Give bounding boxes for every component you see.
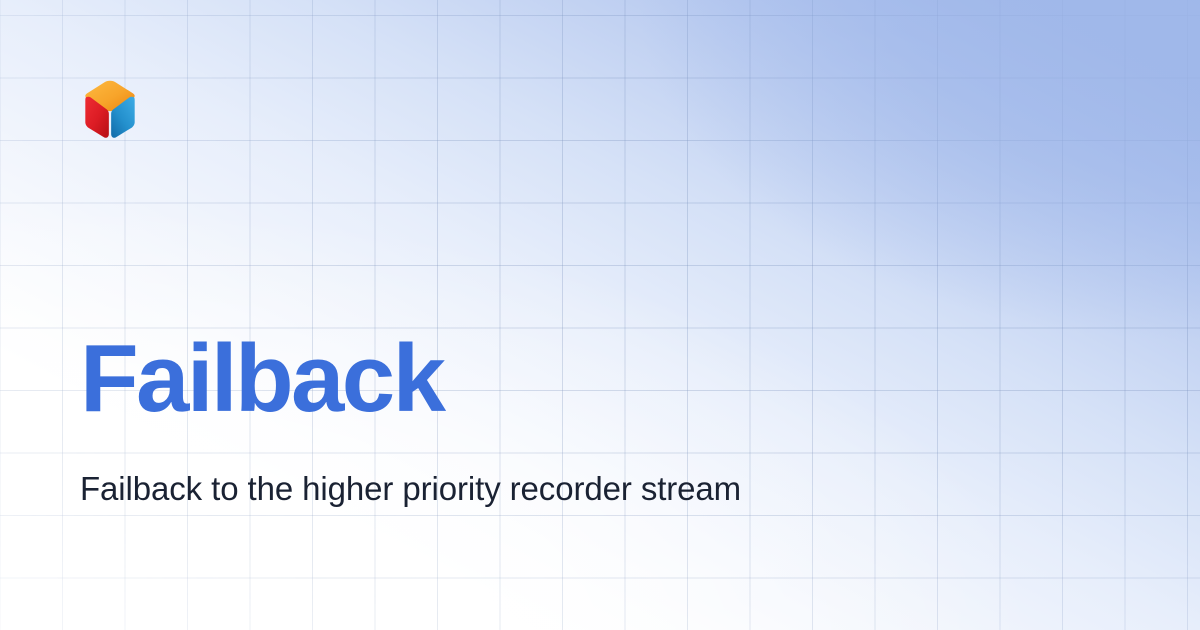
page-description: Failback to the higher priority recorder… [80, 466, 770, 512]
card-content: Failback Failback to the higher priority… [0, 0, 1200, 630]
social-preview-card: Failback Failback to the higher priority… [0, 0, 1200, 630]
isometric-cube-logo [81, 79, 139, 141]
page-title: Failback [80, 328, 443, 430]
